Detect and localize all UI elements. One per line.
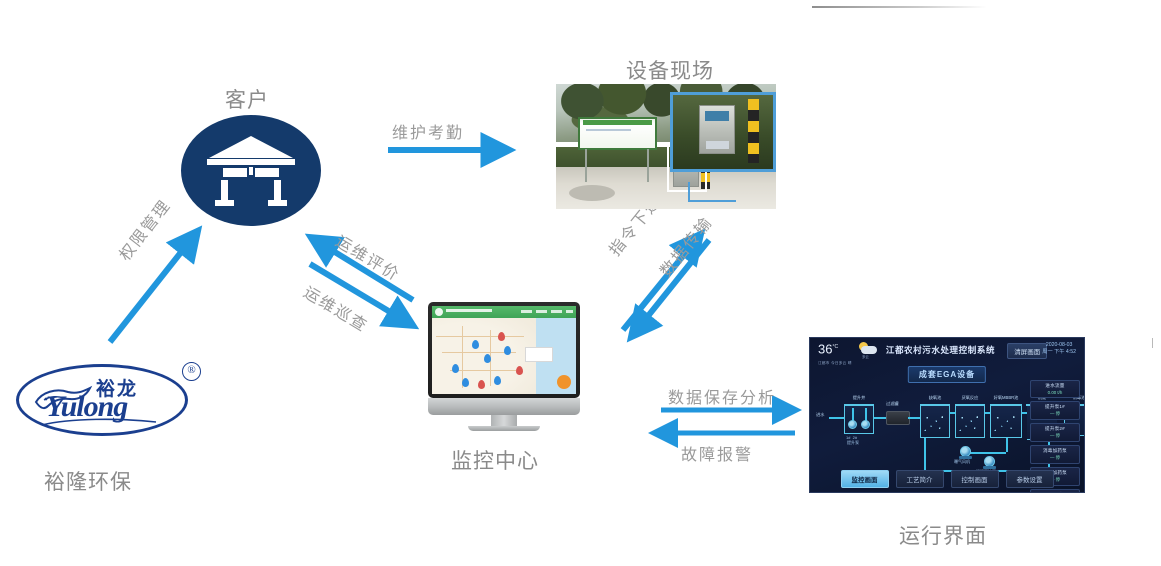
scada-date: 2020-08-03 <box>1042 342 1076 349</box>
scada-operation-screen[interactable]: 36°C 江都市 今日多云 晴 多云 江都农村污水处理控制系统 清屏画面 202… <box>809 337 1085 493</box>
scada-title: 江都农村污水处理控制系统 <box>886 344 995 356</box>
photo-zoom-inset <box>670 92 776 172</box>
scada-time: 周一 下午 4:52 <box>1042 349 1076 356</box>
scada-datetime: 2020-08-03 周一 下午 4:52 <box>1042 342 1076 356</box>
map-app-menu-items <box>521 310 573 313</box>
tank-anoxic: 缺氧池 <box>920 406 950 438</box>
site-label: 设备现场 <box>626 55 714 85</box>
status-card[interactable]: 进水流量 0.00 t/h <box>1030 380 1080 398</box>
pavilion-gate-icon <box>205 134 297 208</box>
status-card[interactable]: 消毒加药泵 — 停 <box>1030 445 1080 464</box>
scada-process-flow: 进水 提升井 1# 2# 提升泵 过滤罐 缺氧池 厌氧反应 <box>816 382 1026 462</box>
tab-monitor-screen[interactable]: 监控画面 <box>841 470 889 488</box>
map-app-header <box>432 306 576 318</box>
sludge-return-pump-icon <box>984 456 995 467</box>
scada-caption-label: 运行界面 <box>899 520 987 550</box>
arrow-label-maintenance-attendance: 维护考勤 <box>392 119 464 143</box>
tank-anaerobic: 厌氧反应 <box>955 406 985 438</box>
status-card[interactable]: 提升泵2# — 停 <box>1030 423 1080 442</box>
lift-pump-1 <box>848 420 857 429</box>
map-app-logo-icon <box>435 308 443 316</box>
photo-board-legs <box>580 149 655 182</box>
monitoring-center-label: 监控中心 <box>451 445 539 475</box>
aeration-blower-icon <box>960 446 971 457</box>
imac-bezel <box>428 302 580 398</box>
imac-chin:  <box>428 398 580 415</box>
photo-inset-cabinet <box>699 105 735 154</box>
customer-label: 客户 <box>225 84 269 114</box>
imac-screen <box>432 306 576 394</box>
scada-header: 36°C 江都市 今日多云 晴 多云 江都农村污水处理控制系统 清屏画面 202… <box>810 338 1084 362</box>
weather-caption: 多云 <box>862 354 869 359</box>
tank-lift-well: 提升井 <box>844 406 874 434</box>
scada-clear-screen-button[interactable]: 清屏画面 <box>1007 343 1047 359</box>
logo-caption: 裕隆环保 <box>44 466 132 496</box>
status-card[interactable]: 提升泵1# — 停 <box>1030 401 1080 420</box>
apple-logo-icon:  <box>500 401 509 413</box>
map-pin-alert <box>478 380 485 389</box>
customer-node[interactable] <box>181 115 321 226</box>
logo-underline-swoosh <box>40 416 160 428</box>
monitoring-center-node[interactable]:  <box>428 302 580 427</box>
map-locate-button[interactable] <box>557 375 571 389</box>
map-body <box>432 318 576 394</box>
map-info-card <box>525 347 553 362</box>
lift-pump-2 <box>861 420 870 429</box>
flow-inlet-label: 进水 <box>816 412 824 418</box>
tab-control-screen[interactable]: 控制画面 <box>951 470 999 488</box>
tab-process-intro[interactable]: 工艺简介 <box>896 470 944 488</box>
tab-parameter-settings[interactable]: 参数设置 <box>1006 470 1054 488</box>
scada-equipment-label: 成套EGA设备 <box>908 366 986 383</box>
photo-zoom-connector <box>688 182 736 202</box>
company-logo: ® 裕龙 Yulong <box>10 360 205 440</box>
map-pin-alert <box>498 332 505 341</box>
map-pin <box>452 364 459 373</box>
map-pin <box>462 378 469 387</box>
scada-temperature: 36°C 江都市 今日多云 晴 <box>818 341 852 370</box>
map-pin <box>472 340 479 349</box>
tank-mbbr: 好氧MBBR池 <box>990 406 1022 438</box>
map-pin <box>484 354 491 363</box>
scada-tab-bar: 监控画面 工艺简介 控制画面 参数设置 <box>810 470 1084 488</box>
map-pin-alert <box>516 366 523 375</box>
status-card-toggle[interactable]: 曝气风机 <box>1030 489 1080 493</box>
scada-temp-sub: 江都市 今日多云 晴 <box>818 357 852 370</box>
aeration-blower-label: 曝气风机 <box>954 459 970 465</box>
lift-pump-caption: 提升泵 <box>847 440 859 446</box>
site-photo[interactable] <box>556 84 776 209</box>
photo-info-board <box>578 117 657 151</box>
imac-stand-foot <box>468 426 540 431</box>
arrow-label-fault-alarm: 故障报警 <box>681 441 753 465</box>
map-pin <box>494 376 501 385</box>
map-app-title-bar <box>446 309 492 312</box>
map-pin <box>504 346 511 355</box>
filter-unit <box>886 411 910 425</box>
registered-trademark-icon: ® <box>182 362 201 381</box>
filter-label: 过滤罐 <box>886 401 899 407</box>
arrow-label-data-storage-analysis: 数据保存分析 <box>668 384 776 408</box>
diagram-canvas: 维护考勤 运维评价 运维巡查 权限管理 指令下达 数据传输 数据保存分析 故障报… <box>0 0 1161 566</box>
weather-cloud-sun-icon: 多云 <box>858 342 878 356</box>
photo-inset-post <box>748 99 759 163</box>
